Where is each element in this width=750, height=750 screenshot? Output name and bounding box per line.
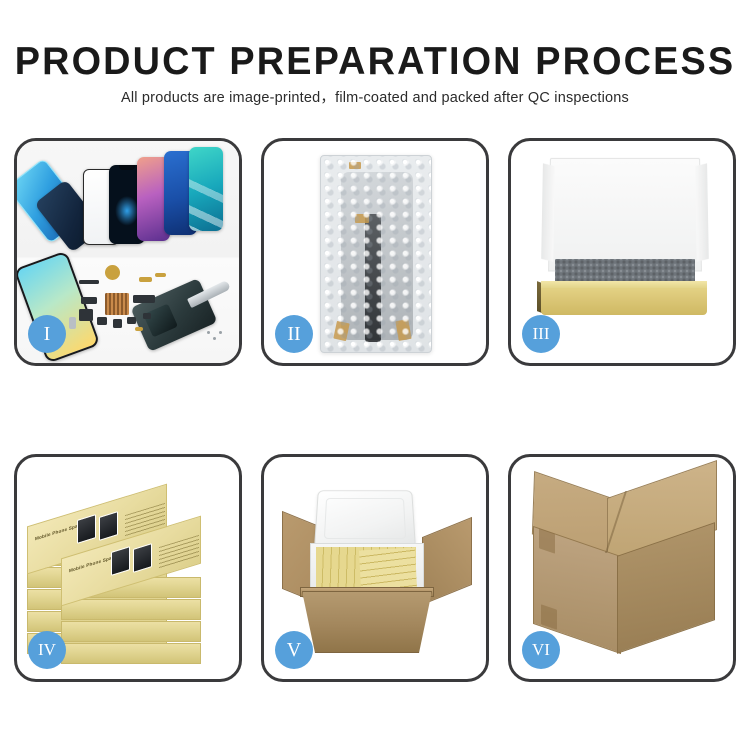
process-step-panel-6: VI [508,454,736,682]
bubble-wrap-bag [320,155,432,353]
camera-module-part [79,309,93,321]
connector-part [139,277,152,282]
process-step-panel-2: II [261,138,489,366]
yellow-box-tray [541,281,707,315]
process-step-panel-1: I [14,138,242,366]
sim-tray-part [69,317,76,329]
page-subtitle: All products are image-printed，film-coat… [0,88,750,108]
process-step-panel-3: III [508,138,736,366]
screw-part [213,337,216,340]
step-badge-6: VI [522,631,560,669]
process-step-panel-5: V [261,454,489,682]
stacked-box [61,643,201,664]
wrapped-flex-cable [365,214,381,342]
white-foam-lid [314,490,416,548]
step-badge-4: IV [28,631,66,669]
flex-cable-part [81,297,97,304]
stacked-box [61,621,201,642]
taptic-engine-part [113,319,122,328]
step-badge-2: II [275,315,313,353]
speaker-part [105,265,120,280]
header: PRODUCT PREPARATION PROCESS All products… [0,0,750,130]
vibrator-part [97,317,107,325]
process-step-grid: I II III [14,138,736,682]
tape-piece [355,214,369,223]
step-badge-1: I [28,315,66,353]
tape-piece [349,162,361,169]
page-title: PRODUCT PREPARATION PROCESS [11,40,739,84]
process-step-panel-4: Mobile Phone Spare Parts Mobile Phone Sp… [14,454,242,682]
step-badge-5: V [275,631,313,669]
carton-body [302,591,432,653]
stacked-box [61,599,201,620]
yellow-boxes-row [359,548,417,591]
sensor-part [143,313,151,319]
step-badge-3: III [522,315,560,353]
white-foam-lid [548,158,702,272]
logic-board-part [105,293,129,315]
teal-swirl-phone [189,147,223,231]
screw-plate-part [135,327,143,331]
antenna-strip-part [79,280,99,284]
earpiece-part [127,317,136,324]
ribbon-cable-part [133,295,155,303]
screw-part [219,331,222,334]
screw-part [207,331,210,334]
bracket-part [155,273,166,277]
